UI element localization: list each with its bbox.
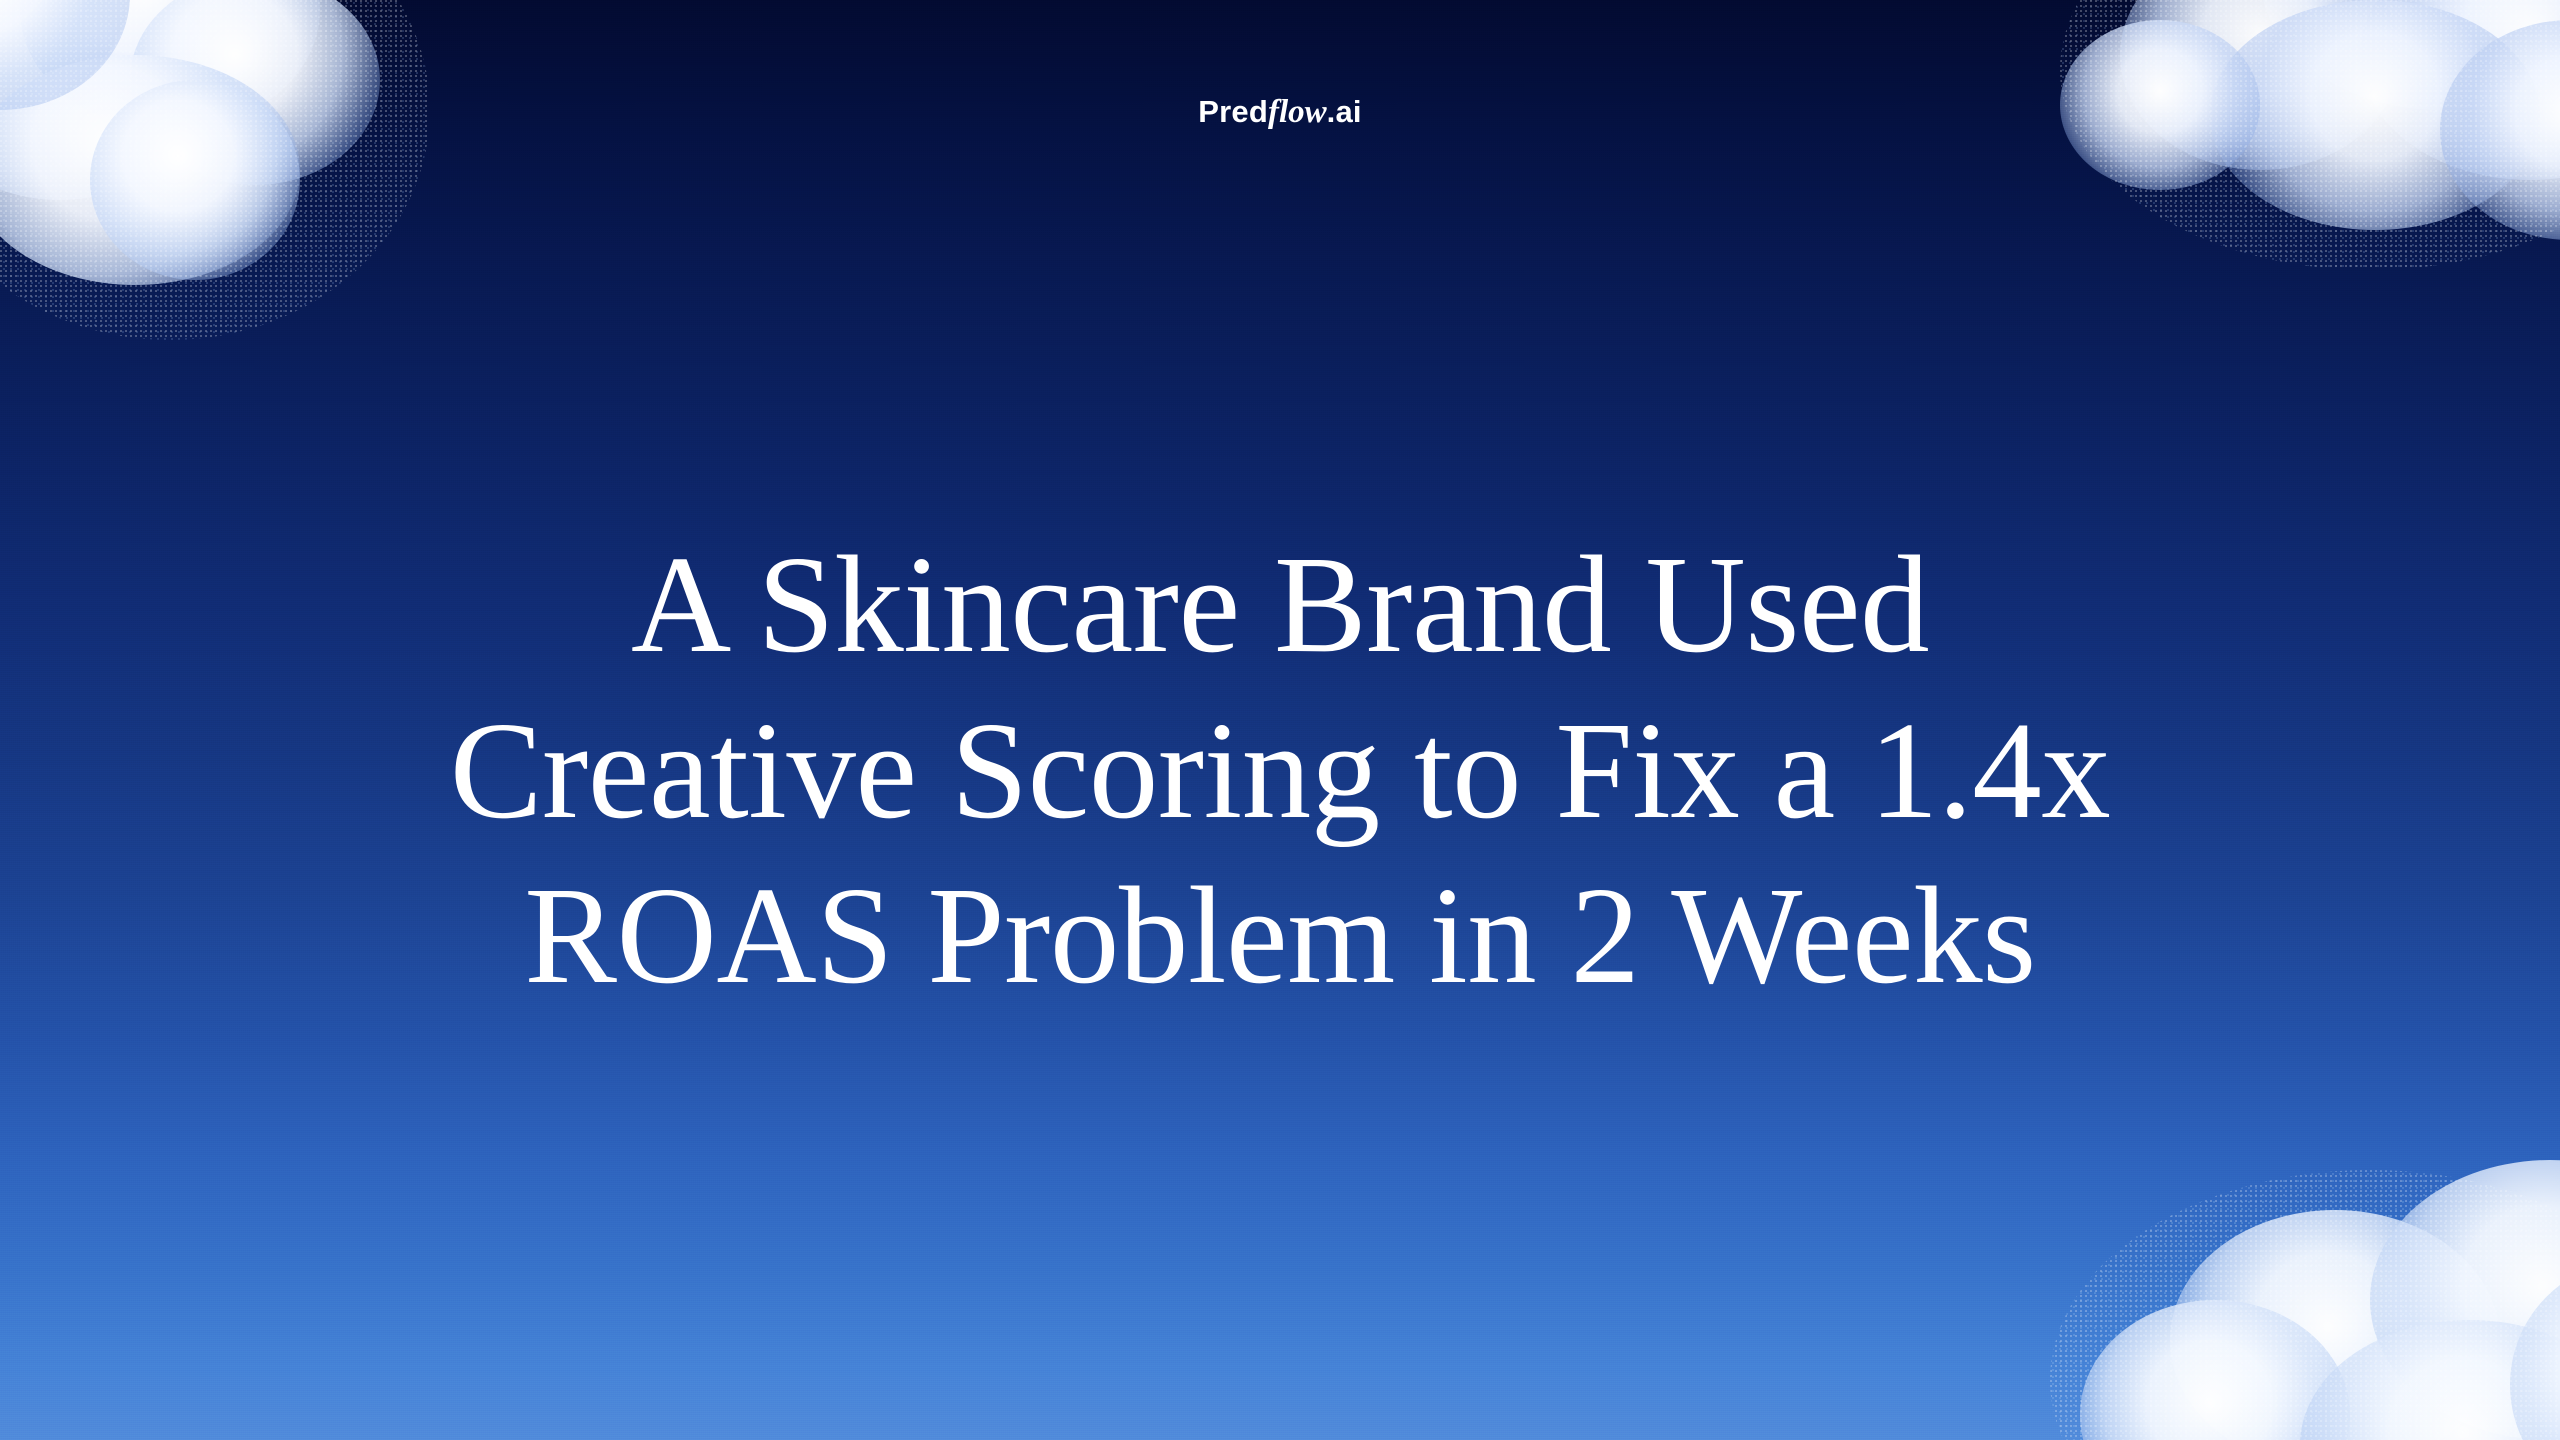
headline-line-2: Creative Scoring to Fix a 1.4x <box>250 689 2310 854</box>
page-title: A Skincare Brand Used Creative Scoring t… <box>250 523 2310 1019</box>
logo-suffix: .ai <box>1327 94 1362 129</box>
cloud-top-right-icon <box>2060 0 2560 270</box>
cloud-top-left-icon <box>0 0 430 340</box>
brand-logo[interactable]: Predflow.ai <box>0 96 2560 129</box>
headline-line-3: ROAS Problem in 2 Weeks <box>250 854 2310 1019</box>
logo-italic-word: flow <box>1268 94 1327 130</box>
logo-prefix: Pred <box>1198 94 1268 129</box>
cloud-bottom-right-icon <box>2050 1170 2560 1440</box>
social-card: Predflow.ai A Skincare Brand Used Creati… <box>0 0 2560 1440</box>
headline-line-1: A Skincare Brand Used <box>250 523 2310 688</box>
